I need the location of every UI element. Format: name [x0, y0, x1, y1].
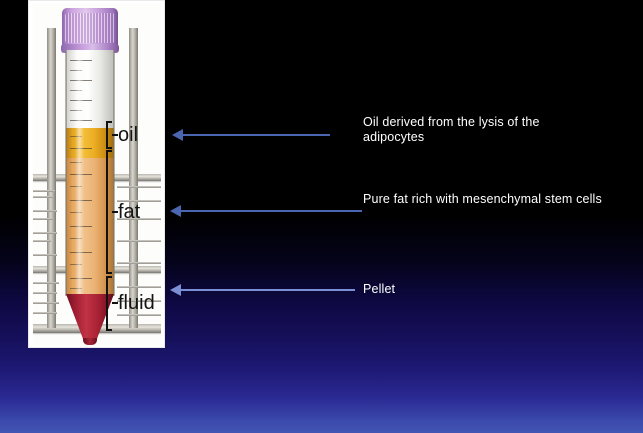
tube-graduation — [70, 60, 92, 61]
rack-wire — [33, 302, 59, 304]
tube-graduation — [70, 162, 82, 163]
arrow-shaft — [180, 289, 355, 291]
tube-cap-ridges — [65, 13, 115, 43]
segment-label-oil: oil — [118, 125, 138, 145]
rack-wire — [33, 292, 57, 294]
rack-wire — [33, 218, 53, 220]
callout-arrow-pellet — [170, 284, 355, 296]
rack-wire — [33, 210, 57, 212]
photo-image-area: oil fat fluid — [33, 4, 161, 346]
tube-graduation — [70, 186, 82, 187]
segment-label-fluid: fluid — [118, 293, 155, 313]
tube-graduation — [70, 238, 82, 239]
rack-wire — [117, 286, 161, 288]
tube-graduation — [70, 278, 92, 279]
rack-wire — [33, 232, 57, 234]
tube-graduation — [70, 212, 82, 213]
tube-graduation — [70, 136, 82, 137]
rack-wire — [33, 282, 59, 284]
tube-graduation — [70, 226, 92, 227]
rack-wire — [33, 190, 55, 192]
tube-graduation — [70, 120, 92, 121]
tube-tip — [83, 338, 97, 345]
tube-graduation — [70, 90, 82, 91]
tube-graduation — [70, 288, 82, 289]
tube-graduation — [70, 252, 92, 253]
tube-graduation — [70, 100, 92, 101]
tube-graduation — [70, 110, 82, 111]
callout-arrow-oil — [172, 129, 330, 141]
rack-wire — [33, 240, 51, 242]
callout-text-fat: Pure fat rich with mesenchymal stem cell… — [363, 192, 603, 207]
rack-wire — [33, 196, 53, 198]
arrow-shaft — [182, 134, 330, 136]
rack-wire — [33, 312, 57, 314]
tube-graduation — [70, 174, 92, 175]
tube-graduation — [70, 80, 92, 81]
rack-wire — [117, 240, 161, 242]
arrow-shaft — [180, 210, 362, 212]
segment-label-fat: fat — [118, 202, 140, 222]
tube-graduation — [70, 70, 82, 71]
callout-arrow-fat — [170, 205, 362, 217]
slide-canvas: oil fat fluid Oil derived from the lysis… — [0, 0, 643, 433]
tube-graduation — [70, 148, 92, 149]
rack-wire — [117, 314, 161, 316]
centrifuge-tube-photo: oil fat fluid — [28, 0, 165, 348]
rack-wire — [117, 262, 161, 264]
rack-post-right — [129, 28, 138, 328]
rack-wire — [117, 186, 161, 188]
layer-clear-supernatant — [66, 50, 114, 128]
tube-edge-right — [113, 50, 115, 296]
tube-graduation — [70, 200, 92, 201]
callout-text-pellet: Pellet — [363, 282, 563, 297]
tube-edge-left — [65, 50, 67, 296]
callout-text-oil: Oil derived from the lysis of the adipoc… — [363, 115, 578, 145]
tube-graduation — [70, 264, 82, 265]
rack-wire — [33, 254, 57, 256]
